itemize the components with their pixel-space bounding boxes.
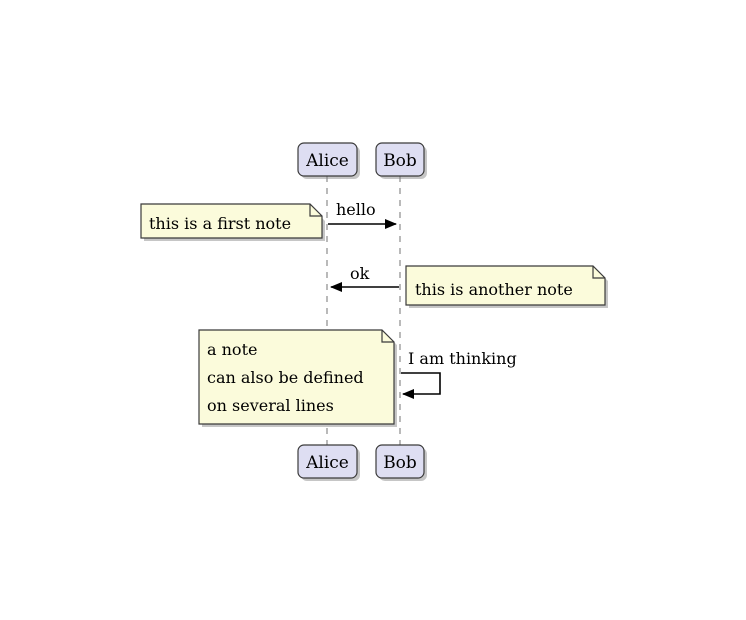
- message-self-thinking-loop: [401, 373, 440, 394]
- participant-bob-top[interactable]: Bob: [376, 143, 427, 179]
- sequence-diagram-canvas: hello ok I am thinking this is a first n…: [0, 0, 746, 620]
- participant-alice-top-label: Alice: [305, 151, 349, 171]
- note-first-line-0: this is a first note: [149, 214, 291, 233]
- participant-alice-bottom[interactable]: Alice: [298, 445, 360, 481]
- message-self-thinking-label: I am thinking: [408, 349, 517, 368]
- sequence-diagram-root: hello ok I am thinking this is a first n…: [0, 0, 746, 620]
- message-self-thinking[interactable]: I am thinking: [401, 349, 517, 394]
- note-another-line-0: this is another note: [415, 280, 573, 299]
- participant-alice-bottom-label: Alice: [305, 453, 349, 473]
- message-ok-label: ok: [350, 264, 370, 283]
- note-multiline-line-1: can also be defined: [207, 368, 364, 387]
- note-multiline-line-0: a note: [207, 340, 257, 359]
- message-ok[interactable]: ok: [331, 264, 399, 287]
- note-multiline[interactable]: a note can also be defined on several li…: [199, 330, 397, 427]
- message-hello-label: hello: [336, 200, 376, 219]
- message-hello[interactable]: hello: [328, 200, 396, 224]
- participants-group: Alice Bob Alice Bob: [298, 143, 427, 481]
- note-another[interactable]: this is another note: [406, 266, 608, 308]
- notes-group: this is a first note this is another not…: [141, 204, 608, 427]
- participant-bob-bottom-label: Bob: [383, 453, 417, 473]
- participant-bob-bottom[interactable]: Bob: [376, 445, 427, 481]
- participant-alice-top[interactable]: Alice: [298, 143, 360, 179]
- note-first[interactable]: this is a first note: [141, 204, 325, 241]
- participant-bob-top-label: Bob: [383, 151, 417, 171]
- note-multiline-line-2: on several lines: [207, 396, 334, 415]
